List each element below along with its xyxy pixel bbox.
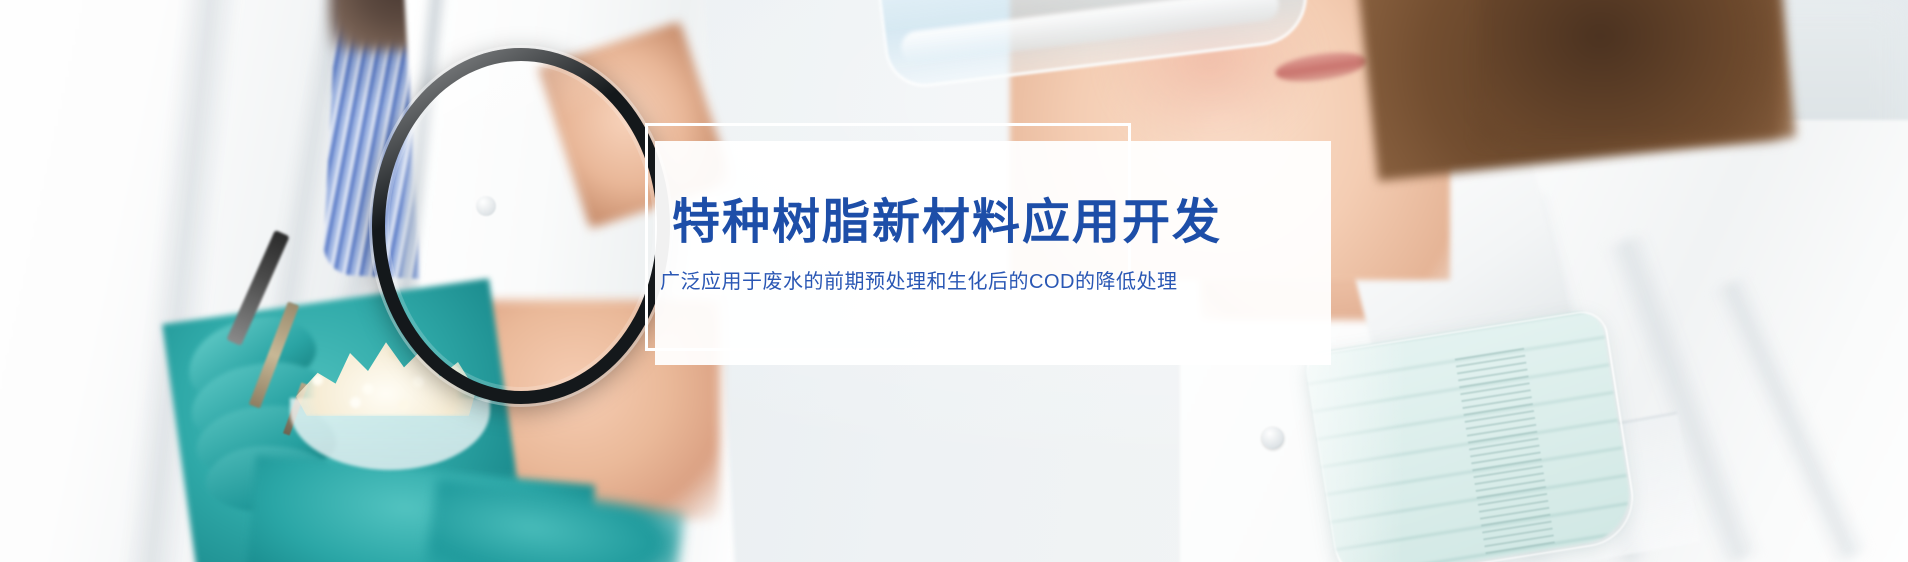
banner-hero: 特种树脂新材料应用开发 广泛应用于废水的前期预处理和生化后的COD的降低处理 (0, 0, 1908, 562)
hair-shadow (1480, 0, 1780, 140)
magnifier-rim (372, 48, 670, 404)
coat-button (1262, 427, 1284, 449)
banner-title: 特种树脂新材料应用开发 (672, 195, 1312, 250)
text-panel (655, 141, 1331, 365)
banner-subtitle: 广泛应用于废水的前期预处理和生化后的COD的降低处理 (660, 268, 1320, 296)
